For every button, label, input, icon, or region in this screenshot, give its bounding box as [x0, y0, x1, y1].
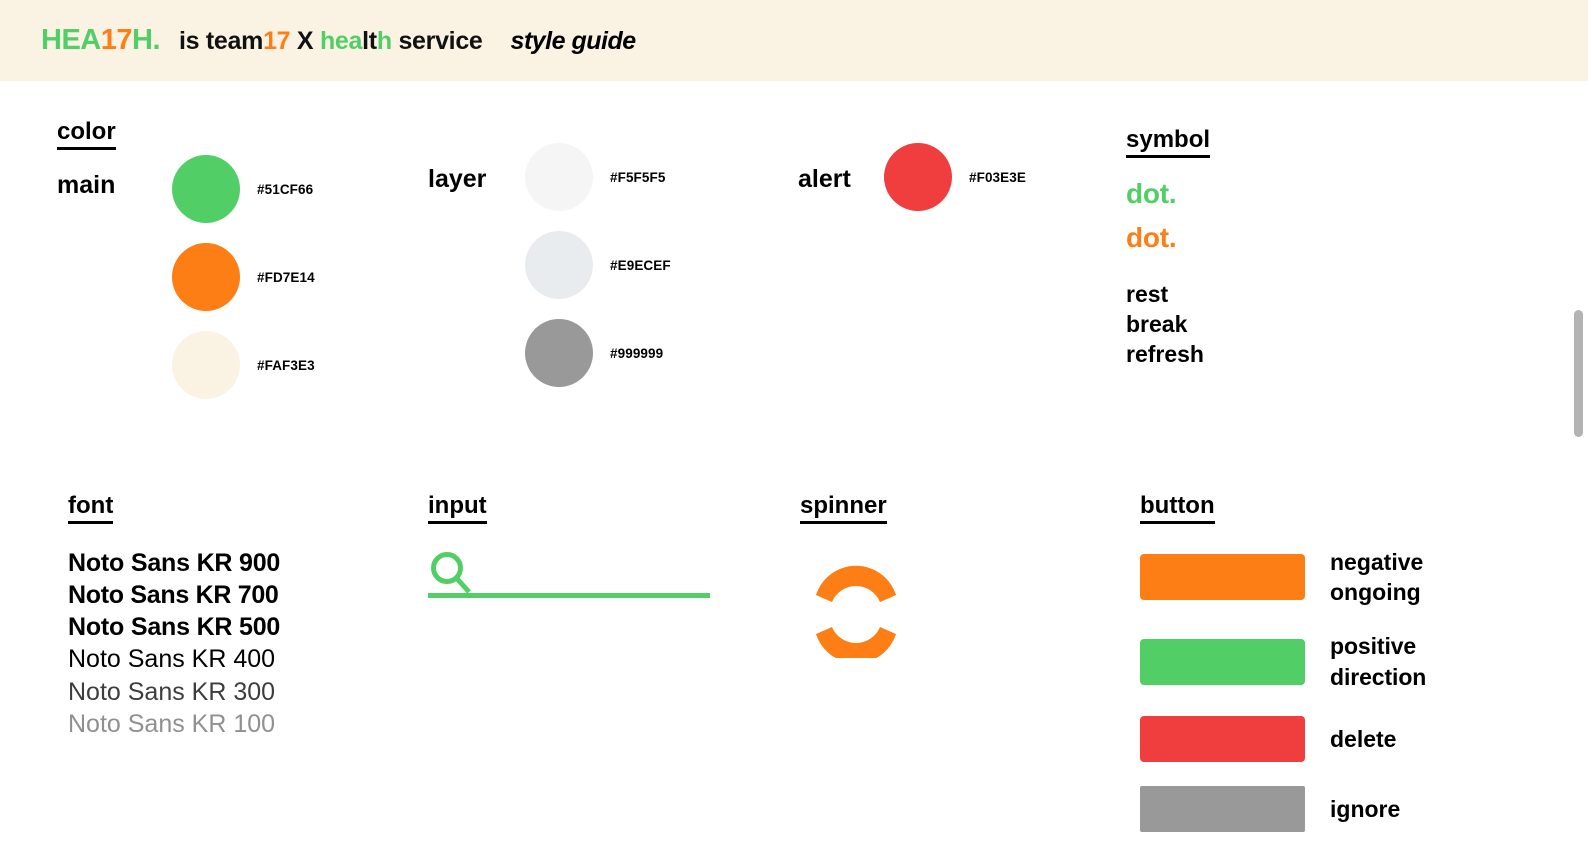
symbol-dot-green: dot.	[1126, 172, 1210, 216]
tagline-part-5: lt	[362, 27, 377, 55]
input-section: input	[428, 492, 710, 604]
symbol-dot-orange: dot.	[1126, 216, 1210, 260]
color-hex-main-3: #FAF3E3	[257, 358, 315, 373]
font-sample-100: Noto Sans KR 100	[68, 708, 280, 740]
color-hex-layer-1: #F5F5F5	[610, 170, 665, 185]
swatch-row: #999999	[525, 319, 671, 387]
color-heading: color	[57, 118, 116, 150]
button-row-ignore: ignore	[1140, 786, 1426, 832]
swatch-row: #FD7E14	[172, 243, 315, 311]
symbol-heading: symbol	[1126, 126, 1210, 158]
button-row-delete: delete	[1140, 716, 1426, 762]
color-swatch-main-2	[172, 243, 240, 311]
color-hex-layer-3: #999999	[610, 346, 663, 361]
spinner-heading: spinner	[800, 492, 887, 524]
button-label-negative-ongoing: negative ongoing	[1330, 547, 1423, 608]
symbol-section: symbol dot. dot. rest break refresh	[1126, 126, 1210, 370]
brand-logo-part-2: 17	[101, 24, 132, 56]
swatch-row: #FAF3E3	[172, 331, 315, 399]
input-underline	[428, 593, 710, 598]
swatch-row: #F5F5F5	[525, 143, 671, 211]
button-heading: button	[1140, 492, 1215, 524]
color-group-label-main: main	[57, 171, 115, 200]
brand-tagline: is team17 X health service	[179, 27, 483, 56]
button-label-ignore: ignore	[1330, 794, 1400, 824]
style-guide-label: style guide	[511, 27, 636, 56]
spinner-arc-top	[816, 565, 896, 601]
scrollbar-track[interactable]	[1572, 82, 1588, 856]
font-sample-500: Noto Sans KR 500	[68, 611, 280, 643]
font-section: font Noto Sans KR 900 Noto Sans KR 700 N…	[68, 492, 280, 740]
color-swatch-layer-1	[525, 143, 593, 211]
tagline-part-1: is team	[179, 27, 263, 55]
input-heading: input	[428, 492, 487, 524]
button-negative-ongoing[interactable]	[1140, 554, 1305, 600]
color-swatch-layer-3	[525, 319, 593, 387]
color-swatch-main-1	[172, 155, 240, 223]
font-heading: font	[68, 492, 113, 524]
spinner-arc-bottom	[816, 627, 896, 658]
color-hex-alert-1: #F03E3E	[969, 170, 1026, 185]
tagline-part-3: X	[290, 27, 320, 55]
color-group-layer: #F5F5F5 #E9ECEF #999999	[525, 143, 671, 407]
color-group-main: #51CF66 #FD7E14 #FAF3E3	[172, 155, 315, 419]
symbol-word-break: break	[1126, 310, 1210, 340]
button-delete[interactable]	[1140, 716, 1305, 762]
spinner-graphic	[808, 548, 904, 658]
tagline-part-4: hea	[320, 27, 362, 55]
color-swatch-alert-1	[884, 143, 952, 211]
tagline-part-7: service	[392, 27, 483, 55]
spinner-section: spinner	[800, 492, 904, 658]
page-title: HEA17H. is team17 X health service style…	[41, 24, 636, 57]
symbol-word-list: rest break refresh	[1126, 280, 1210, 370]
button-row-positive: positive direction	[1140, 631, 1426, 692]
color-swatch-layer-2	[525, 231, 593, 299]
color-swatch-main-3	[172, 331, 240, 399]
button-ignore[interactable]	[1140, 786, 1305, 832]
button-label-positive-direction: positive direction	[1330, 631, 1426, 692]
tagline-part-6: h	[377, 27, 392, 55]
font-sample-700: Noto Sans KR 700	[68, 579, 280, 611]
swatch-row: #51CF66	[172, 155, 315, 223]
color-group-label-alert: alert	[798, 165, 851, 194]
brand-logo-part-3: H.	[132, 24, 160, 56]
color-group-alert: #F03E3E	[884, 143, 1026, 231]
scrollbar-thumb[interactable]	[1574, 310, 1583, 437]
font-sample-300: Noto Sans KR 300	[68, 676, 280, 708]
swatch-row: #F03E3E	[884, 143, 1026, 211]
page-header: HEA17H. is team17 X health service style…	[0, 0, 1588, 81]
symbol-word-rest: rest	[1126, 280, 1210, 310]
color-hex-layer-2: #E9ECEF	[610, 258, 671, 273]
brand-logo: HEA17H.	[41, 24, 160, 57]
color-section: color main	[57, 118, 116, 166]
color-hex-main-1: #51CF66	[257, 182, 313, 197]
brand-logo-part-1: HEA	[41, 24, 101, 56]
color-group-label-layer: layer	[428, 165, 486, 194]
button-label-delete: delete	[1330, 724, 1396, 754]
swatch-row: #E9ECEF	[525, 231, 671, 299]
font-sample-400: Noto Sans KR 400	[68, 643, 280, 675]
button-positive-direction[interactable]	[1140, 639, 1305, 685]
font-sample-900: Noto Sans KR 900	[68, 547, 280, 579]
symbol-word-refresh: refresh	[1126, 340, 1210, 370]
button-section: button negative ongoing positive directi…	[1140, 492, 1426, 856]
color-hex-main-2: #FD7E14	[257, 270, 315, 285]
tagline-part-2: 17	[263, 27, 290, 55]
button-row-negative: negative ongoing	[1140, 547, 1426, 608]
